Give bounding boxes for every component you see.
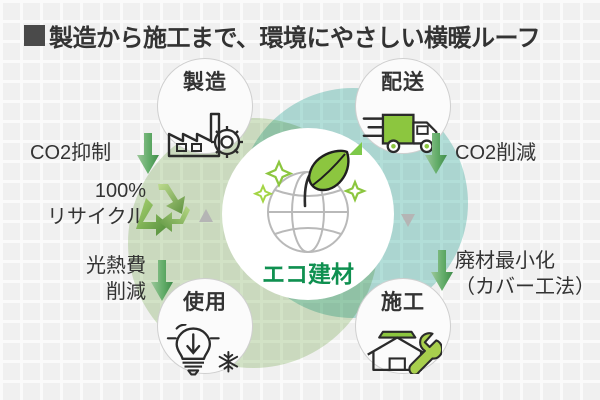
label-utility-line2: 削減 <box>26 279 146 305</box>
label-co2-suppress: CO2抑制 <box>30 140 111 166</box>
green-down-arrow-icon-top-left <box>136 133 160 175</box>
cycle-triangle-arrow-icon-right <box>400 212 416 228</box>
lightbulb-snowflake-icon <box>164 324 244 376</box>
label-waste-minimize: 廃材最小化 （カバー工法） <box>455 248 595 300</box>
green-down-arrow-icon-bottom-right <box>430 250 454 292</box>
node-manufacture-label: 製造 <box>157 66 253 96</box>
green-down-arrow-icon-bottom-left <box>150 260 174 302</box>
center-label: エコ建材 <box>222 255 394 289</box>
label-waste-line2: （カバー工法） <box>455 274 595 300</box>
factory-gear-icon <box>165 108 245 160</box>
globe-with-leaf-icon <box>243 140 373 260</box>
node-delivery-label: 配送 <box>355 66 451 96</box>
house-wrench-icon <box>362 322 442 374</box>
label-utility-cost: 光熱費 削減 <box>26 253 146 305</box>
label-utility-line1: 光熱費 <box>26 253 146 279</box>
page-title: 製造から施工まで、環境にやさしい横暖ルーフ <box>24 18 540 53</box>
green-down-arrow-icon-top-right <box>424 133 448 175</box>
recycle-symbol-icon <box>128 180 200 244</box>
black-square-marker-icon <box>24 25 45 46</box>
label-waste-line1: 廃材最小化 <box>455 248 595 274</box>
cycle-triangle-arrow-icon-left <box>198 208 214 224</box>
label-co2-reduce: CO2削減 <box>455 140 536 166</box>
title-text: 製造から施工まで、環境にやさしい横暖ルーフ <box>49 18 540 53</box>
infographic-canvas: 製造から施工まで、環境にやさしい横暖ルーフ エコ建材 製造 <box>0 0 600 400</box>
